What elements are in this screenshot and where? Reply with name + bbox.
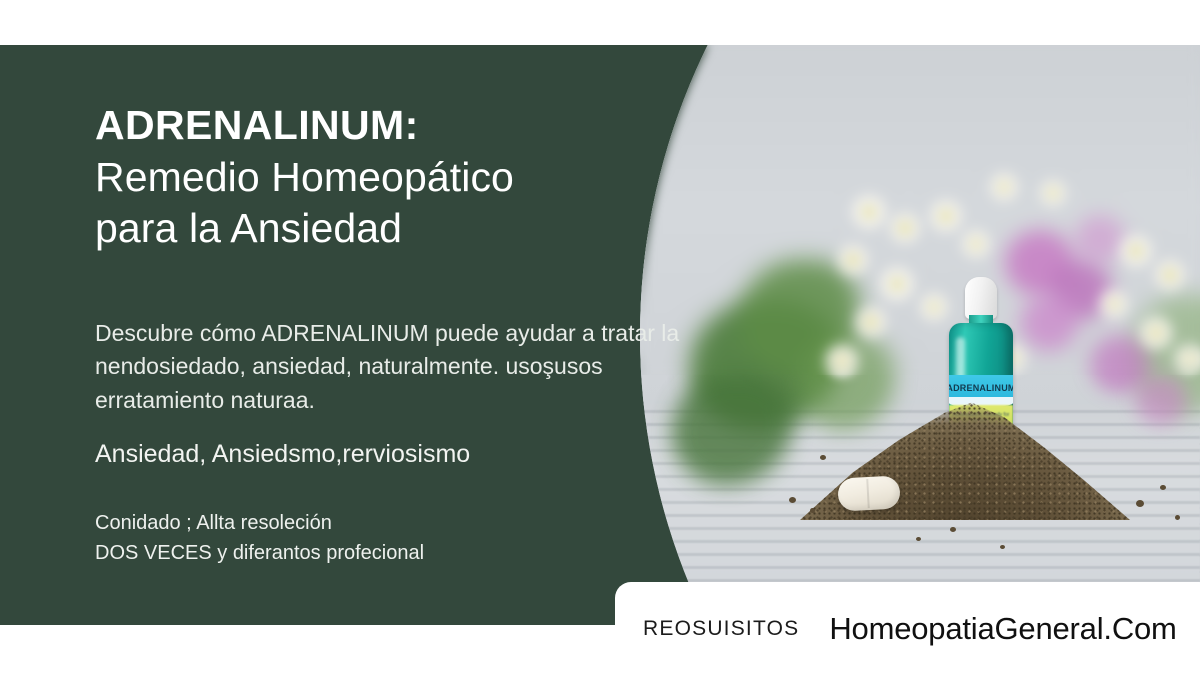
page-title: ADRENALINUM: Remedio Homeopático para la… bbox=[95, 100, 695, 255]
headline-line-1: ADRENALINUM: bbox=[95, 100, 695, 152]
text-content-column: ADRENALINUM: Remedio Homeopático para la… bbox=[0, 45, 700, 625]
footer-brand-panel: REOSUISITOS HomeopatiaGeneral.Com bbox=[615, 582, 1200, 675]
soil-crumb bbox=[810, 508, 815, 513]
soil-crumb bbox=[1160, 485, 1166, 490]
soil-crumb bbox=[950, 527, 956, 532]
bottle-cap-icon bbox=[965, 277, 997, 319]
white-capsule bbox=[837, 475, 901, 511]
keywords-line: Ansiedad, Ansiedsmo,rerviosismo bbox=[95, 438, 695, 472]
notes-block: Conidado ; Allta resoleción DOS VECES y … bbox=[95, 508, 695, 569]
website-url[interactable]: HomeopatiaGeneral.Com bbox=[829, 611, 1176, 647]
soil-crumb bbox=[789, 497, 796, 503]
photo-scene: ADRENALINUM Homeopathic Remedy for Anxie… bbox=[640, 45, 1200, 625]
soil-crumb bbox=[916, 537, 921, 541]
photo-circular-mask: ADRENALINUM Homeopathic Remedy for Anxie… bbox=[640, 45, 1200, 625]
note-line-1: Conidado ; Allta resoleción bbox=[95, 508, 695, 538]
promotional-banner: ADRENALINUM Homeopathic Remedy for Anxie… bbox=[0, 0, 1200, 675]
bottle-label-text: ADRENALINUM bbox=[949, 383, 1013, 394]
purple-flower-blob bbox=[1135, 375, 1187, 425]
soil-crumb bbox=[1136, 500, 1144, 507]
headline-line-2: Remedio Homeopático bbox=[95, 152, 695, 204]
headline-line-3: para la Ansiedad bbox=[95, 203, 695, 255]
soil-crumb bbox=[1000, 545, 1005, 549]
banner-stage: ADRENALINUM Homeopathic Remedy for Anxie… bbox=[0, 45, 1200, 625]
depth-of-field-blur bbox=[640, 45, 1200, 375]
soil-crumb bbox=[1175, 515, 1180, 520]
soil-crumb bbox=[820, 455, 826, 460]
note-line-2: DOS VECES y diferantos profecional bbox=[95, 538, 695, 568]
brand-logo-text: REOSUISITOS bbox=[643, 617, 799, 641]
body-paragraph: Descubre cómo ADRENALINUM puede ayudar a… bbox=[95, 317, 695, 417]
